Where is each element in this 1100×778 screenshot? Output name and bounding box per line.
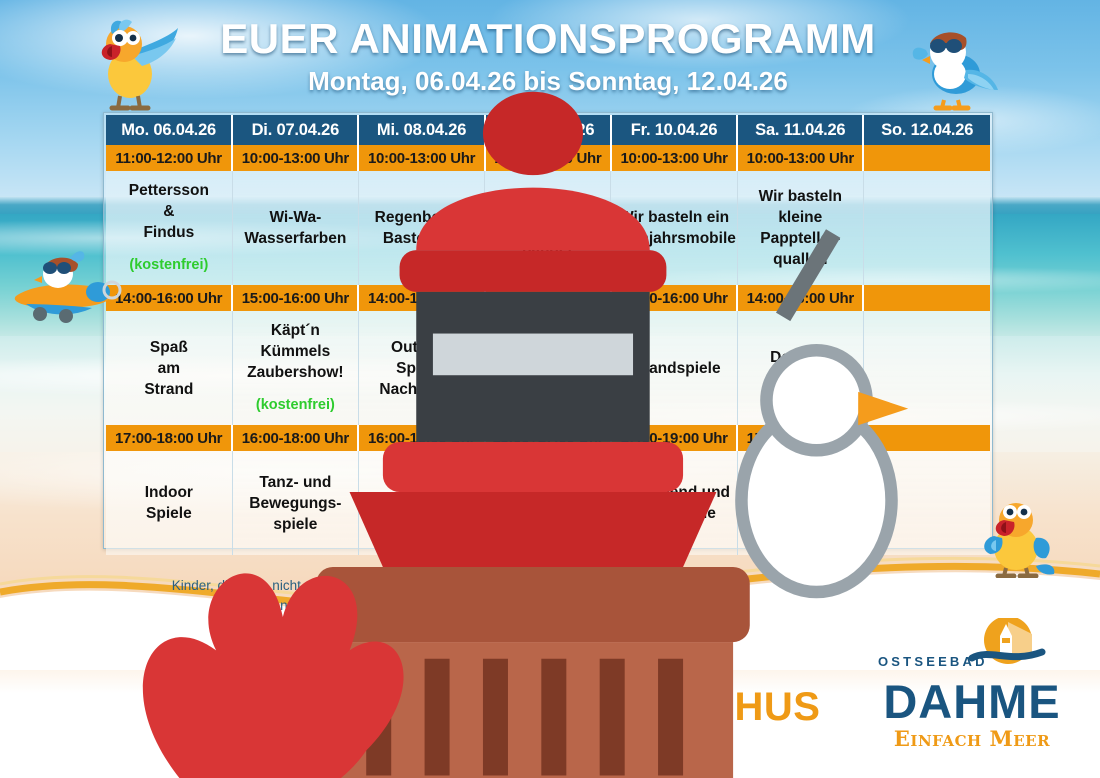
lighthouse-mascot	[16, 0, 1100, 778]
poster-root: EUER ANIMATIONSPROGRAMM Montag, 06.04.26…	[0, 0, 1100, 778]
